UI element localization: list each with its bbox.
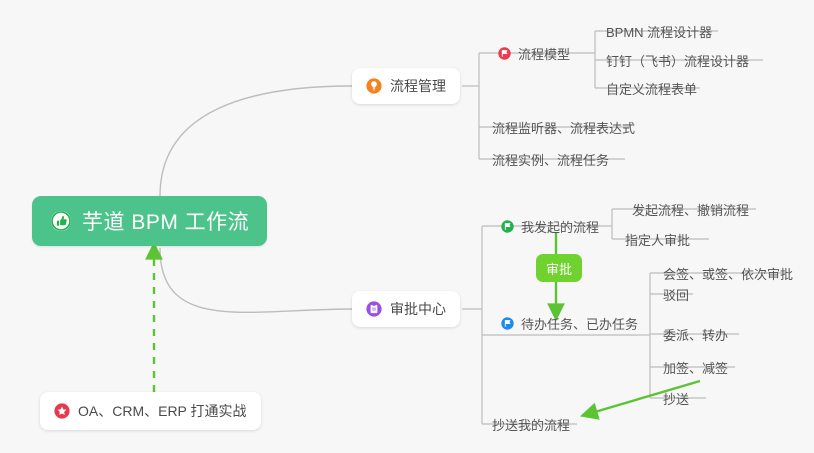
star-icon [54, 403, 70, 419]
node-dingtalk-feishu-designer-label: 钉钉（飞书）流程设计器 [606, 51, 749, 70]
node-bpmn-designer[interactable]: BPMN 流程设计器 [598, 18, 718, 44]
branch-approval-center[interactable]: 审批中心 [352, 291, 460, 327]
node-process-model[interactable]: 流程模型 [490, 40, 576, 66]
mindmap-canvas: 芋道 BPM 工作流 OA、CRM、ERP 打通实战 流程管理 [0, 0, 814, 453]
node-start-cancel-process[interactable]: 发起流程、撤销流程 [624, 196, 755, 222]
node-custom-process-form[interactable]: 自定义流程表单 [598, 75, 703, 101]
node-add-remove-sign-label: 加签、减签 [663, 358, 728, 377]
edge-root-to-process-management [160, 86, 352, 196]
node-reject-label: 驳回 [663, 285, 689, 304]
annotation-approval-tag-label: 审批 [546, 259, 572, 278]
node-countersign-orsign-sequential-label: 会签、或签、依次审批 [663, 264, 793, 283]
node-cc-to-me-process[interactable]: 抄送我的流程 [484, 411, 576, 437]
flag-red-icon [498, 47, 511, 60]
node-cc-to-me-process-label: 抄送我的流程 [492, 415, 570, 434]
node-reject[interactable]: 驳回 [655, 281, 695, 307]
footer-node[interactable]: OA、CRM、ERP 打通实战 [40, 392, 261, 430]
lightbulb-icon [366, 78, 382, 94]
branch-approval-center-label: 审批中心 [390, 299, 446, 319]
node-delegate-transfer-label: 委派、转办 [663, 325, 728, 344]
branch-process-management[interactable]: 流程管理 [352, 68, 460, 104]
node-cc[interactable]: 抄送 [655, 385, 695, 411]
clipboard-icon [366, 301, 382, 317]
node-designated-approver[interactable]: 指定人审批 [617, 226, 696, 252]
footer-node-label: OA、CRM、ERP 打通实战 [78, 401, 247, 421]
node-todo-done-tasks-label: 待办任务、已办任务 [521, 314, 638, 333]
annotation-approval-tag: 审批 [536, 254, 582, 282]
flag-green-icon [501, 220, 514, 233]
edge-root-to-approval-center [160, 248, 352, 312]
node-delegate-transfer[interactable]: 委派、转办 [655, 321, 734, 347]
flag-blue-icon [501, 317, 514, 330]
thumbs-up-icon [50, 210, 72, 232]
node-my-initiated-process[interactable]: 我发起的流程 [493, 213, 605, 239]
node-my-initiated-process-label: 我发起的流程 [521, 217, 599, 236]
node-todo-done-tasks[interactable]: 待办任务、已办任务 [493, 310, 644, 336]
node-add-remove-sign[interactable]: 加签、减签 [655, 354, 734, 380]
node-process-model-label: 流程模型 [518, 44, 570, 63]
node-process-instance-task-label: 流程实例、流程任务 [492, 150, 609, 169]
node-process-listener-expression[interactable]: 流程监听器、流程表达式 [484, 114, 641, 140]
node-dingtalk-feishu-designer[interactable]: 钉钉（飞书）流程设计器 [598, 47, 755, 73]
root-node[interactable]: 芋道 BPM 工作流 [32, 196, 267, 246]
node-process-instance-task[interactable]: 流程实例、流程任务 [484, 146, 615, 172]
node-start-cancel-process-label: 发起流程、撤销流程 [632, 200, 749, 219]
node-designated-approver-label: 指定人审批 [625, 230, 690, 249]
node-bpmn-designer-label: BPMN 流程设计器 [606, 22, 712, 41]
node-cc-label: 抄送 [663, 389, 689, 408]
node-process-listener-expression-label: 流程监听器、流程表达式 [492, 118, 635, 137]
branch-process-management-label: 流程管理 [390, 76, 446, 96]
root-node-label: 芋道 BPM 工作流 [82, 206, 249, 236]
node-custom-process-form-label: 自定义流程表单 [606, 79, 697, 98]
